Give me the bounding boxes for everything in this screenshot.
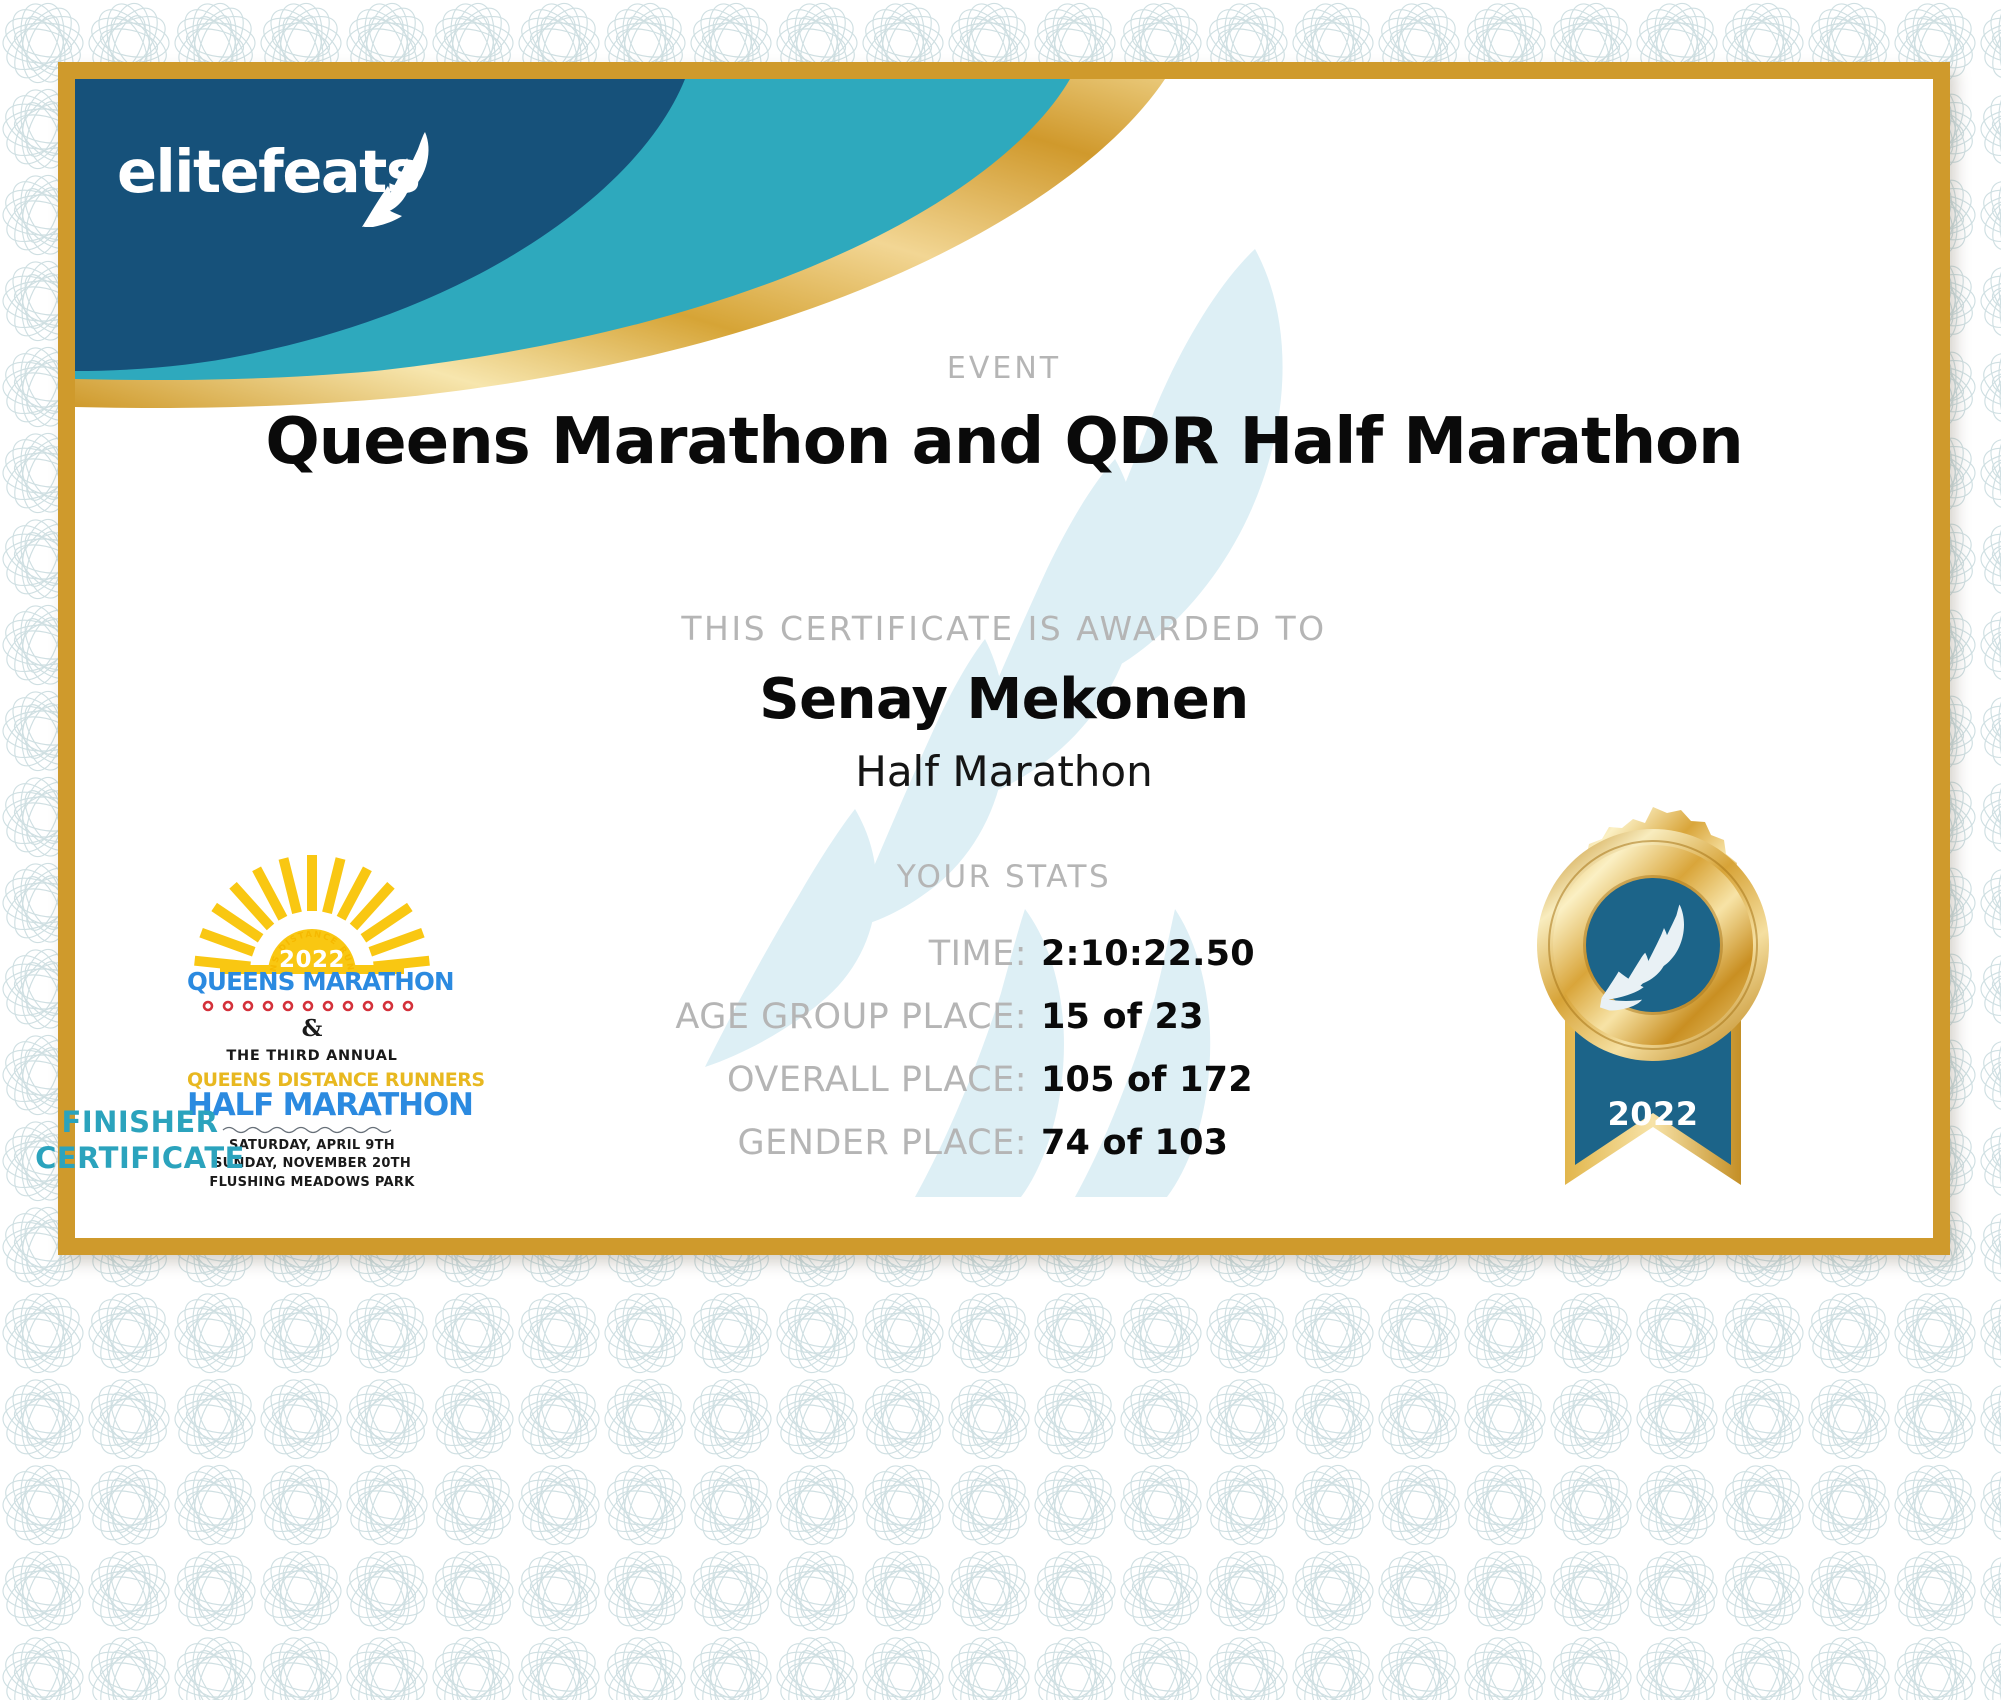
medal-rosette-icon	[1513, 797, 1793, 1197]
finisher-medal-badge: 2022	[1513, 797, 1793, 1197]
certificate-inner: elitefeats EVENT Queens Marathon and QDR…	[75, 79, 1933, 1238]
event-title: Queens Marathon and QDR Half Marathon	[75, 405, 1933, 479]
stat-value-age-group-place: 15 of 23	[1041, 997, 1204, 1037]
race-date-line-3: FLUSHING MEADOWS PARK	[187, 1174, 437, 1192]
winged-foot-icon	[355, 128, 445, 228]
finisher-certificate-caption: FINISHER CERTIFICATE	[0, 1104, 286, 1177]
finisher-caption-line-2: CERTIFICATE	[0, 1140, 286, 1176]
finisher-caption-line-1: FINISHER	[0, 1104, 286, 1140]
certificate-card: elitefeats EVENT Queens Marathon and QDR…	[58, 62, 1950, 1255]
stat-value-time: 2:10:22.50	[1041, 934, 1255, 974]
certificate-content: EVENT Queens Marathon and QDR Half Marat…	[75, 79, 1933, 1238]
stat-value-gender-place: 74 of 103	[1041, 1123, 1228, 1163]
race-logo-dot-row	[201, 999, 423, 1013]
elitefeats-logo: elitefeats	[117, 134, 447, 234]
event-kicker-label: EVENT	[75, 351, 1933, 386]
recipient-division: Half Marathon	[75, 747, 1933, 796]
stat-value-overall-place: 105 of 172	[1041, 1060, 1253, 1100]
race-logo-annual-line: THE THIRD ANNUAL	[187, 1048, 437, 1064]
sunburst-icon: QUEENS DISTANCE RUNNERS 2022	[187, 847, 437, 979]
race-logo-ampersand: &	[187, 1015, 437, 1042]
medal-year-label: 2022	[1513, 1095, 1793, 1133]
certificate-page: elitefeats EVENT Queens Marathon and QDR…	[0, 0, 2001, 1700]
race-logo-title: QUEENS MARATHON	[187, 967, 437, 996]
awarded-to-label: THIS CERTIFICATE IS AWARDED TO	[75, 609, 1933, 648]
recipient-name: Senay Mekonen	[75, 667, 1933, 732]
